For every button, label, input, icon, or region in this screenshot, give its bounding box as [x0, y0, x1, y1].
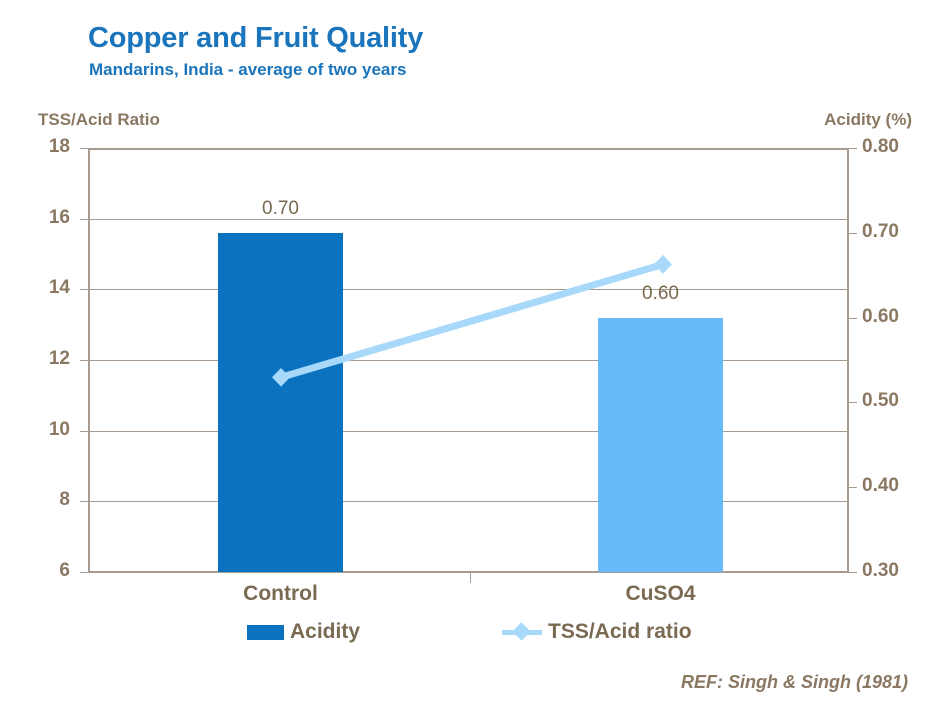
bar-control-acidity[interactable]: [218, 233, 343, 572]
tick-left-14: [80, 289, 88, 290]
ytick-right-5: 0.30: [862, 560, 899, 582]
right-axis-title: Acidity (%): [824, 110, 912, 130]
category-divider-tick: [470, 572, 471, 583]
chart-subtitle: Mandarins, India - average of two years: [89, 60, 406, 80]
chart-title: Copper and Fruit Quality: [88, 22, 423, 55]
category-label-control: Control: [218, 582, 343, 606]
tick-left-12: [80, 360, 88, 361]
bar-label-control: 0.70: [218, 198, 343, 220]
tick-right-070: [849, 233, 857, 234]
gridline-12: [88, 360, 848, 361]
gridline-18: [88, 148, 848, 150]
tick-right-080: [849, 148, 857, 149]
tick-left-10: [80, 431, 88, 432]
left-axis-title: TSS/Acid Ratio: [38, 110, 160, 130]
tick-right-040: [849, 487, 857, 488]
reference-note: REF: Singh & Singh (1981): [681, 672, 908, 693]
ytick-right-4: 0.40: [862, 475, 899, 497]
bar-label-cuso4: 0.60: [598, 283, 723, 305]
ytick-left-0: 18: [49, 136, 70, 158]
ytick-left-3: 12: [49, 348, 70, 370]
tick-right-050: [849, 402, 857, 403]
gridline-8: [88, 501, 848, 502]
ytick-right-2: 0.60: [862, 306, 899, 328]
tick-left-8: [80, 501, 88, 502]
ytick-left-6: 6: [59, 560, 70, 582]
legend-swatch-icon: [247, 625, 284, 640]
plot-area: [88, 148, 848, 572]
ytick-left-1: 16: [49, 207, 70, 229]
ytick-left-2: 14: [49, 277, 70, 299]
chart-container: Copper and Fruit Quality Mandarins, Indi…: [0, 0, 944, 707]
ytick-right-0: 0.80: [862, 136, 899, 158]
tick-left-18: [80, 148, 88, 149]
gridline-16: [88, 219, 848, 220]
tick-right-030: [849, 572, 857, 573]
legend-item-tss-acid-ratio[interactable]: TSS/Acid ratio: [502, 620, 692, 644]
legend-item-acidity[interactable]: Acidity: [247, 620, 360, 644]
tick-left-6: [80, 572, 88, 573]
gridline-14: [88, 289, 848, 290]
legend-line-diamond-icon: [502, 624, 542, 640]
gridline-10: [88, 431, 848, 432]
legend-label-tss-acid-ratio: TSS/Acid ratio: [548, 620, 692, 644]
tick-right-060: [849, 318, 857, 319]
chart-legend: Acidity TSS/Acid ratio: [0, 620, 944, 652]
ytick-right-3: 0.50: [862, 390, 899, 412]
ytick-left-5: 8: [59, 489, 70, 511]
ytick-right-1: 0.70: [862, 221, 899, 243]
bar-cuso4-acidity[interactable]: [598, 318, 723, 572]
category-label-cuso4: CuSO4: [598, 582, 723, 606]
gridline-6-baseline: [88, 571, 848, 573]
tick-left-16: [80, 219, 88, 220]
legend-label-acidity: Acidity: [290, 620, 360, 644]
ytick-left-4: 10: [49, 419, 70, 441]
